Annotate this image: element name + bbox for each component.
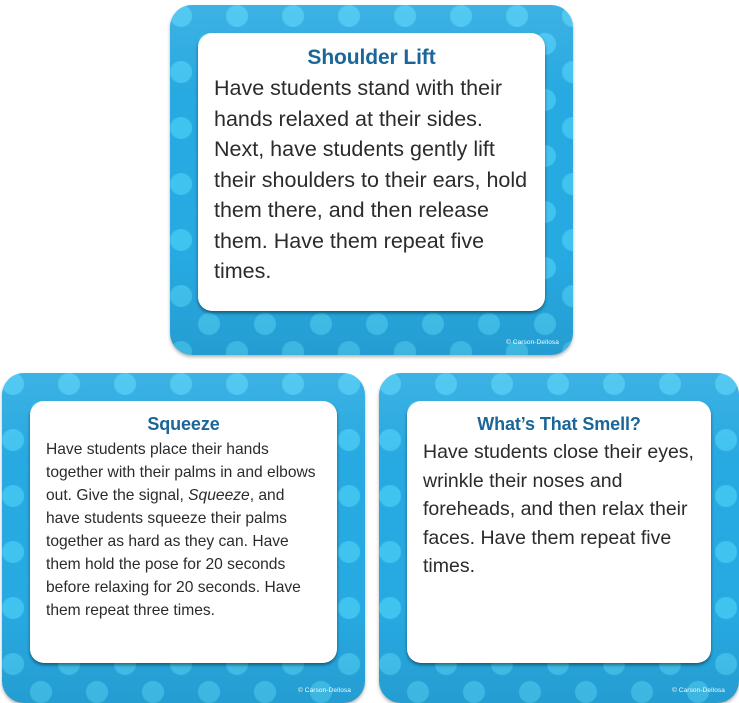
card-body-text: Have students close their eyes, wrinkle … bbox=[423, 438, 695, 581]
copyright-notice: © Carson-Dellosa bbox=[298, 687, 351, 694]
task-card-whats-that-smell: What’s That Smell? Have students close t… bbox=[379, 373, 739, 703]
card-body-text: Have students stand with their hands rel… bbox=[214, 73, 529, 287]
card-body-segment-2: , and have students squeeze their palms … bbox=[46, 487, 301, 619]
task-card-squeeze: Squeeze Have students place their hands … bbox=[2, 373, 365, 703]
card-title: Squeeze bbox=[46, 413, 321, 436]
card-body-text: Have students place their hands together… bbox=[46, 438, 321, 622]
copyright-notice: © Carson-Dellosa bbox=[672, 687, 725, 694]
task-card-shoulder-lift: Shoulder Lift Have students stand with t… bbox=[170, 5, 573, 355]
copyright-notice: © Carson-Dellosa bbox=[506, 339, 559, 346]
card-body-emphasis: Squeeze bbox=[188, 487, 250, 504]
card-white-panel: What’s That Smell? Have students close t… bbox=[407, 401, 711, 663]
card-title: Shoulder Lift bbox=[214, 45, 529, 71]
card-white-panel: Squeeze Have students place their hands … bbox=[30, 401, 337, 663]
card-title: What’s That Smell? bbox=[423, 413, 695, 436]
card-white-panel: Shoulder Lift Have students stand with t… bbox=[198, 33, 545, 311]
